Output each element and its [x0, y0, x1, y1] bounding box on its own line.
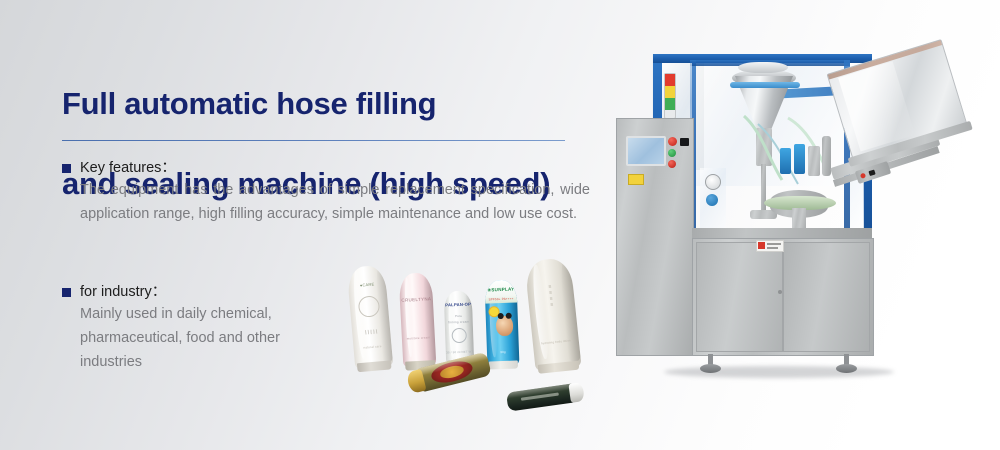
- for-industry-body-line-3: industries: [80, 350, 365, 374]
- tube-darkgreen-lying: [506, 383, 576, 411]
- power-switch[interactable]: [680, 138, 689, 146]
- tube-sunplay: ❀SUNPLAY SPF50+ PA++++ 30g: [484, 279, 519, 368]
- hose-filling-sealing-machine-photo: [604, 18, 996, 414]
- warning-label: [756, 240, 784, 252]
- tube-crueltyna: CRUELTYNA moisture cream: [399, 272, 437, 370]
- sealing-head-3: [808, 146, 820, 176]
- for-industry-body-line-2: pharmaceutical, food and other: [80, 326, 365, 350]
- tube-beige-large: ≡≡≡≡ hydrating body lotion: [524, 257, 581, 373]
- hmi-touch-screen[interactable]: [626, 136, 666, 166]
- section-key-features: Key features： The equipment has the adva…: [62, 158, 602, 226]
- bullet-square-icon: [62, 164, 71, 173]
- stop-button[interactable]: [668, 160, 676, 168]
- emergency-stop-button[interactable]: [668, 137, 677, 146]
- cabinet-door-left[interactable]: [696, 242, 783, 352]
- start-button[interactable]: [668, 149, 676, 157]
- pressure-gauge: [705, 174, 721, 190]
- bullet-square-icon: [62, 288, 71, 297]
- sealing-head-1: [780, 148, 791, 174]
- turret-column: [792, 208, 806, 230]
- machine-work-deck: [692, 228, 872, 238]
- cabinet-door-right[interactable]: [783, 242, 870, 352]
- title-divider: [62, 140, 565, 141]
- regulator-knob[interactable]: [706, 194, 718, 206]
- key-features-body: The equipment has the advantages of simp…: [80, 178, 590, 226]
- tower-light-icon: [664, 73, 676, 119]
- key-features-heading: Key features：: [80, 158, 176, 178]
- page-title-line-1: Full automatic hose filling: [62, 84, 582, 124]
- machine-floor-shadow: [664, 366, 894, 378]
- product-banner: Full automatic hose filling and sealing …: [0, 0, 1000, 450]
- key-features-heading-row: Key features：: [62, 158, 602, 178]
- ce-label: [628, 174, 644, 185]
- for-industry-heading: for industry：: [80, 282, 166, 302]
- air-cylinder: [822, 136, 831, 176]
- adjustable-foot-right-pad: [836, 364, 857, 373]
- tube-care: ●CARE ║║║║║ natural care: [347, 265, 394, 372]
- hopper-lid: [738, 62, 788, 73]
- for-industry-body: Mainly used in daily chemical, pharmaceu…: [80, 302, 365, 374]
- hopper-clamp: [730, 82, 800, 88]
- for-industry-body-line-1: Mainly used in daily chemical,: [80, 302, 365, 326]
- cabinet-door-lock[interactable]: [778, 290, 782, 294]
- cosmetic-tubes-product-photo: ●CARE ║║║║║ natural care CRUELTYNA moist…: [345, 252, 600, 427]
- adjustable-foot-left-pad: [700, 364, 721, 373]
- sealing-head-2: [794, 144, 805, 174]
